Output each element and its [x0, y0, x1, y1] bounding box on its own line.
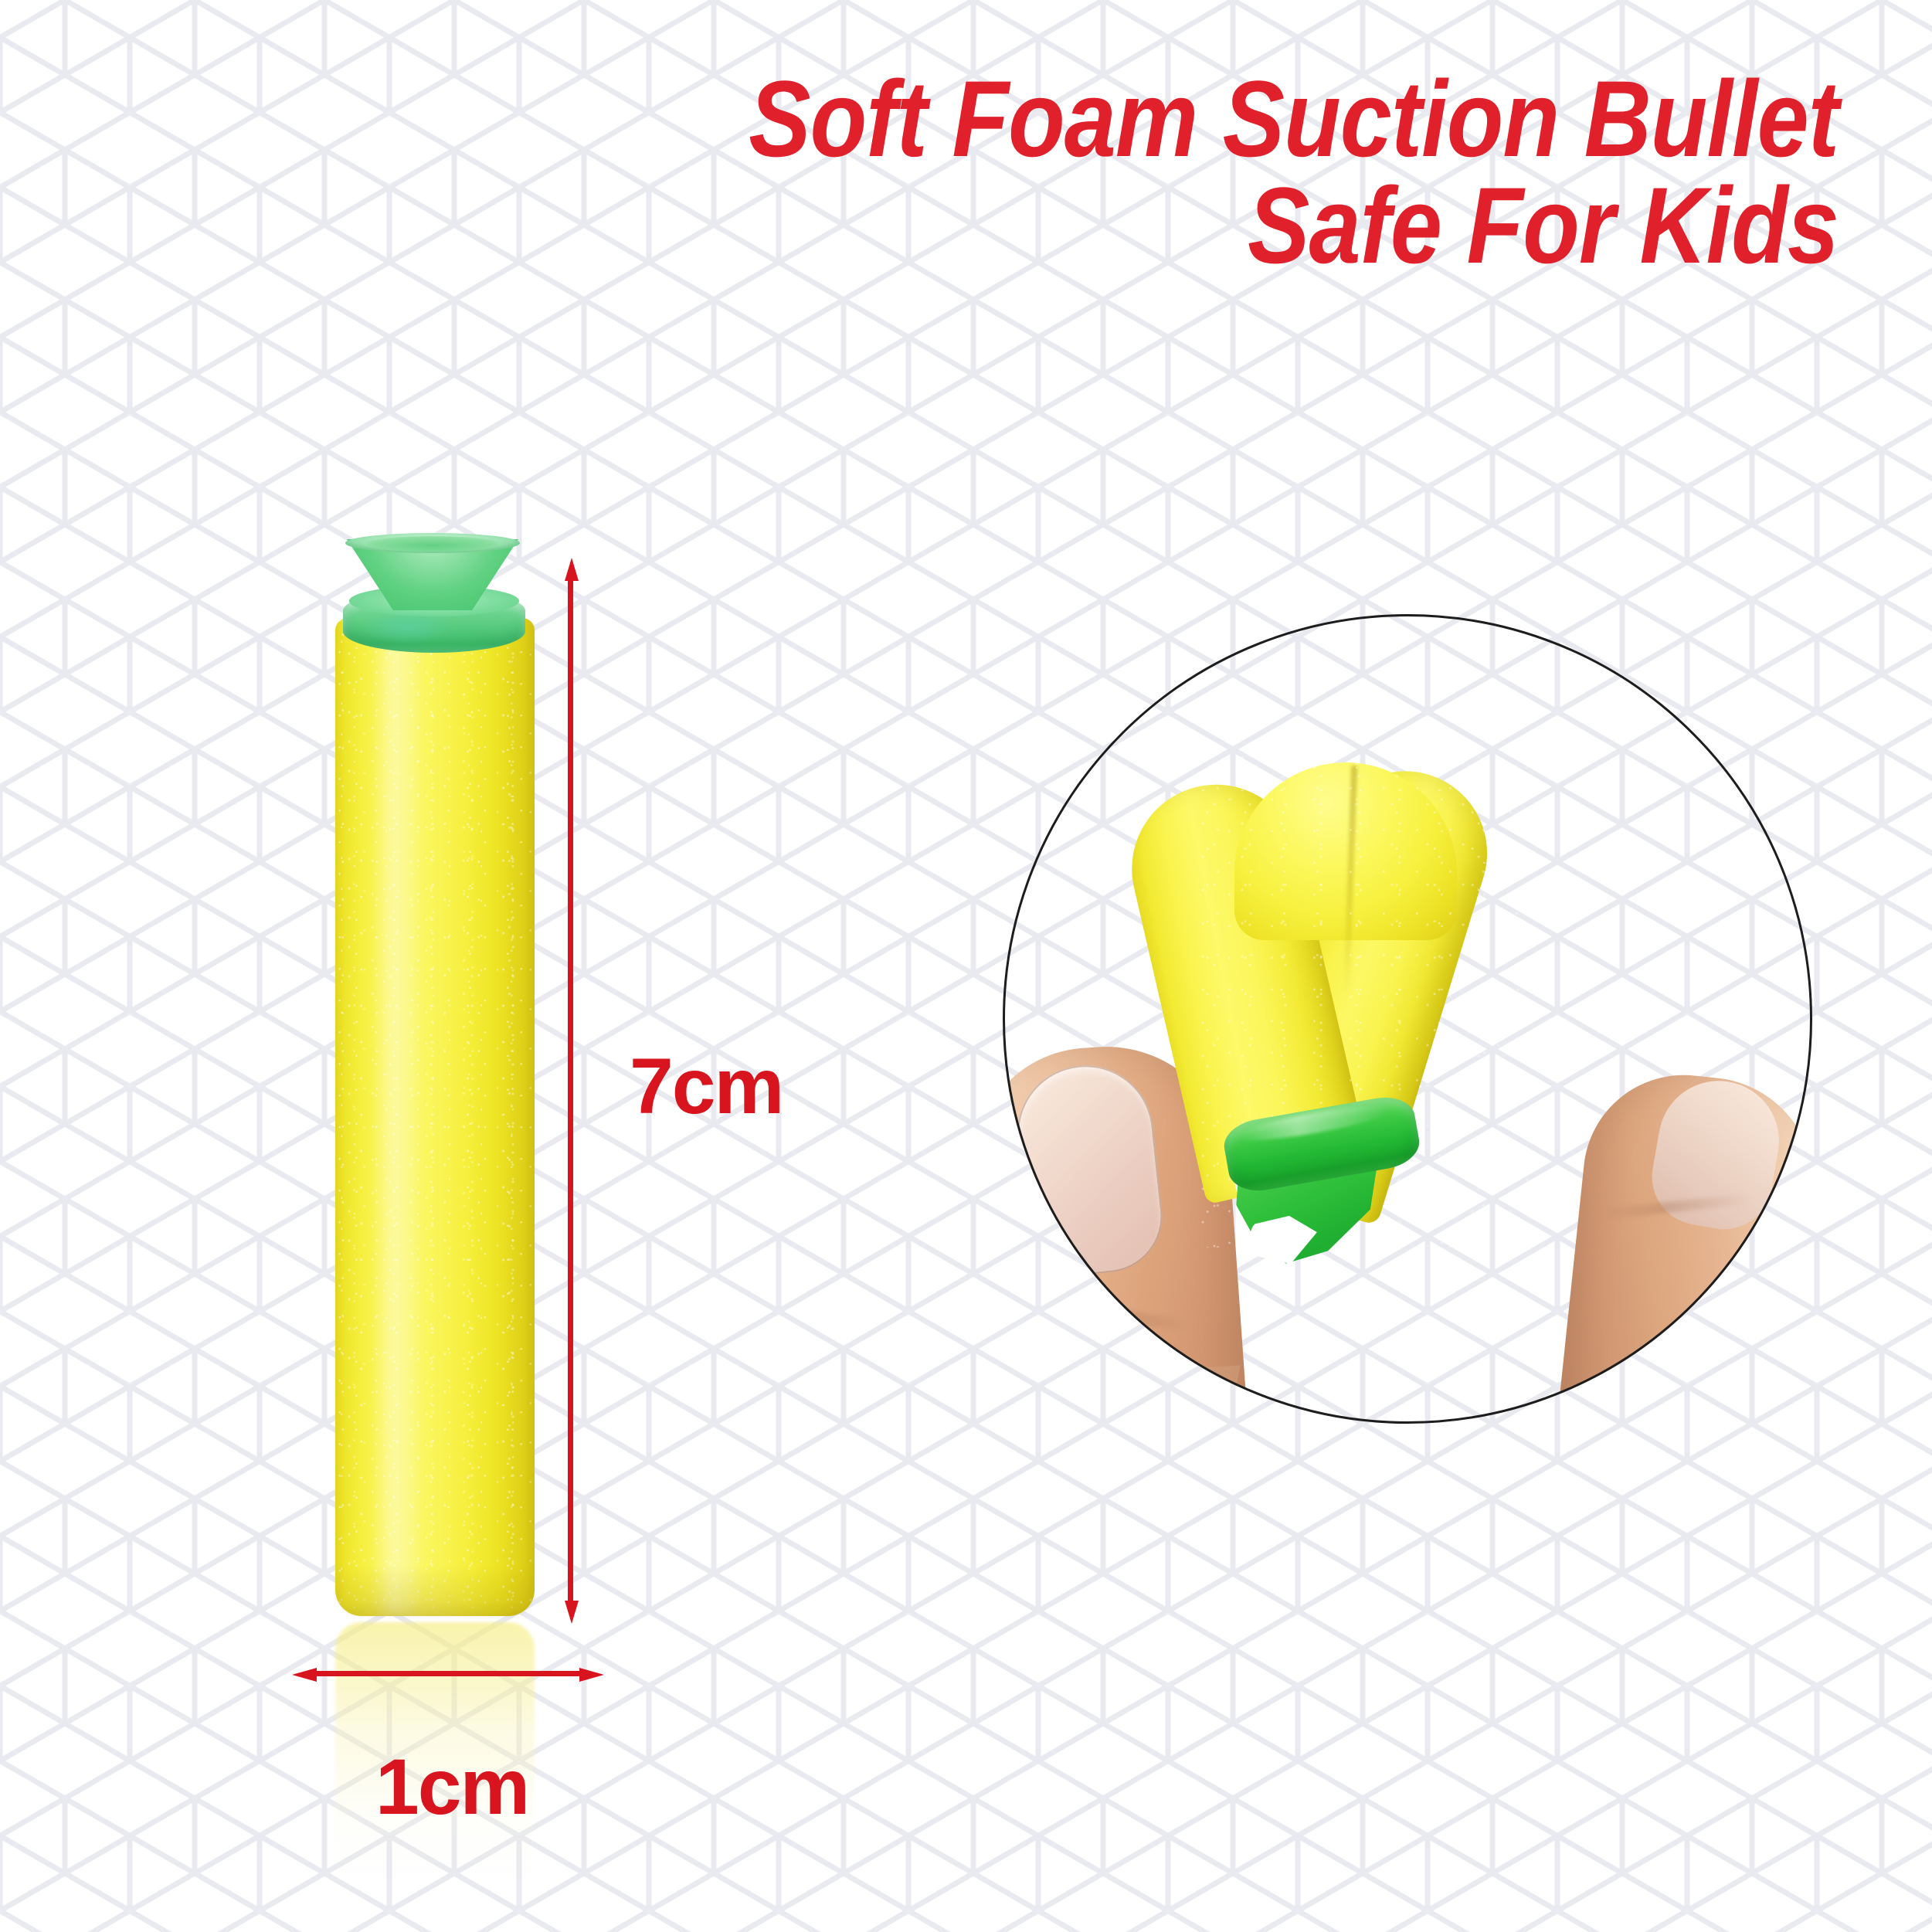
dart-suction-cup-inner [363, 536, 502, 552]
arrow-head-down-icon [565, 1601, 579, 1624]
foam-dart-product [0, 0, 695, 1932]
foam-bottom-shadow [335, 1565, 535, 1616]
headline-line-1: Soft Foam Suction Bullet [257, 71, 1839, 167]
width-dimension-arrow [292, 1668, 604, 1680]
arrow-shaft-horizontal [311, 1671, 586, 1676]
height-dimension-label: 7cm [630, 1047, 783, 1126]
dart-foam-body [335, 618, 535, 1616]
foam-texture [335, 618, 535, 1616]
headline-line-2: Safe For Kids [257, 178, 1839, 273]
headline-block: Soft Foam Suction Bullet Safe For Kids [0, 71, 1839, 273]
arrow-shaft-vertical [568, 575, 573, 1607]
height-dimension-arrow [565, 558, 576, 1624]
arrow-head-right-icon [579, 1668, 604, 1682]
inset-circle-outline [1003, 614, 1812, 1424]
width-dimension-label: 1cm [375, 1747, 528, 1826]
dart-collar-tint [362, 610, 454, 644]
foam-highlight [371, 618, 423, 1616]
infographic-canvas: Soft Foam Suction Bullet Safe For Kids 7… [0, 0, 1932, 1932]
